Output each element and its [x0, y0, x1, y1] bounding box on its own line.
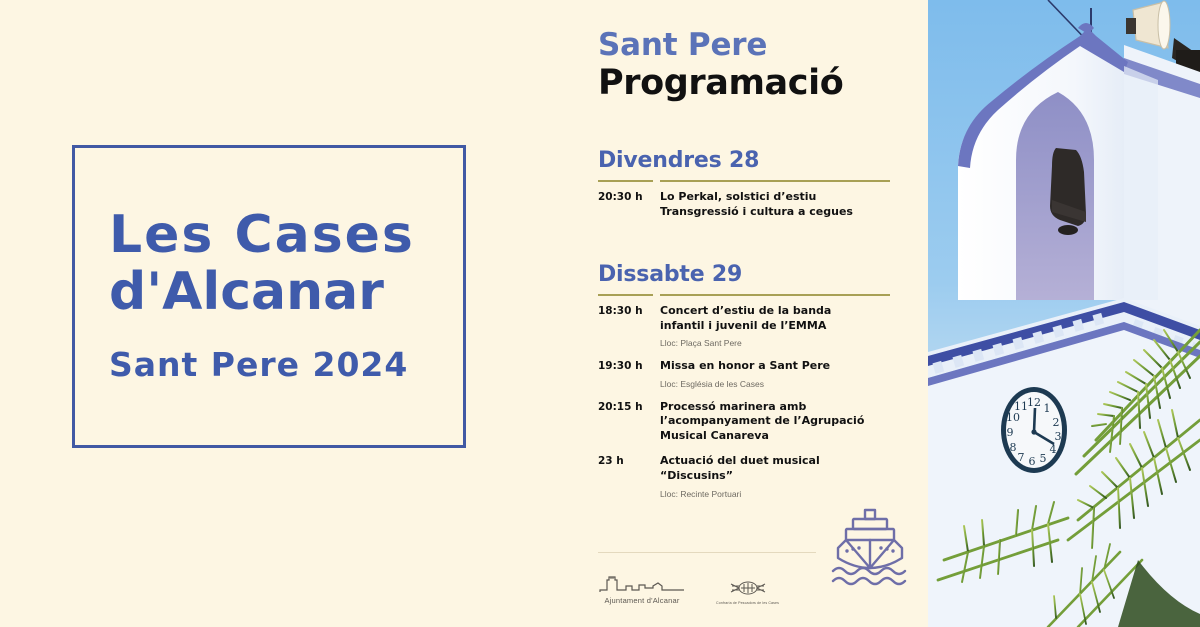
tower-clock: 12 1 2 3 4 5 6 7 8 9 10 11	[1001, 387, 1067, 473]
day-divider	[598, 180, 898, 182]
event-title: Processó marinera ambl’acompanyament de …	[660, 400, 898, 444]
poster-title-line-1: Les Cases	[109, 209, 429, 262]
svg-text:3: 3	[1055, 430, 1062, 443]
town-skyline-icon	[598, 573, 686, 593]
ship-icon	[830, 508, 910, 591]
divider-short	[598, 294, 653, 296]
day-title: Dissabte 29	[598, 262, 898, 287]
header-eyebrow: Sant Pere	[598, 28, 843, 62]
logo-caption: Ajuntament d'Alcanar	[604, 596, 679, 605]
event-body: Lo Perkal, solstici d’estiuTransgressió …	[660, 190, 898, 219]
event-time: 20:30 h	[598, 190, 660, 219]
event-row: 18:30 h Concert d’estiu de la bandainfan…	[598, 304, 898, 348]
logo-caption: Confraria de Pescadors de les Cases	[716, 601, 779, 605]
event-place: Lloc: Recinte Portuari	[660, 489, 898, 499]
day-block-dissabte: Dissabte 29 18:30 h Concert d’estiu de l…	[598, 262, 898, 510]
event-title: Missa en honor a Sant Pere	[660, 359, 898, 374]
bell-tower-photo: 12 1 2 3 4 5 6 7 8 9 10 11	[928, 0, 1200, 627]
day-title: Divendres 28	[598, 148, 898, 173]
title-box: Les Cases d'Alcanar Sant Pere 2024	[72, 145, 466, 448]
event-time: 20:15 h	[598, 400, 660, 444]
event-row: 23 h Actuació del duet musical“Discusins…	[598, 454, 898, 498]
day-block-divendres: Divendres 28 20:30 h Lo Perkal, solstici…	[598, 148, 898, 230]
divider-long	[660, 180, 890, 182]
svg-text:6: 6	[1029, 455, 1036, 468]
event-title: Actuació del duet musical“Discusins”	[660, 454, 898, 483]
fishing-guild-icon	[717, 580, 779, 598]
svg-text:4: 4	[1050, 443, 1057, 456]
event-body: Missa en honor a Sant Pere Lloc: Esglési…	[660, 359, 898, 389]
poster-canvas: Les Cases d'Alcanar Sant Pere 2024 Sant …	[0, 0, 1200, 627]
header-title: Programació	[598, 64, 843, 103]
event-place: Lloc: Plaça Sant Pere	[660, 338, 898, 348]
event-row: 19:30 h Missa en honor a Sant Pere Lloc:…	[598, 359, 898, 389]
event-place: Lloc: Església de les Cases	[660, 379, 898, 389]
event-time: 23 h	[598, 454, 660, 498]
event-body: Actuació del duet musical“Discusins” Llo…	[660, 454, 898, 498]
event-time: 18:30 h	[598, 304, 660, 348]
event-row: 20:15 h Processó marinera ambl’acompanya…	[598, 400, 898, 444]
poster-title-line-2: d'Alcanar	[109, 266, 429, 319]
bell-tower-illustration: 12 1 2 3 4 5 6 7 8 9 10 11	[928, 0, 1200, 627]
day-divider	[598, 294, 898, 296]
footer-divider	[598, 552, 816, 554]
poster-subtitle: Sant Pere 2024	[109, 345, 429, 384]
event-title: Concert d’estiu de la bandainfantil i ju…	[660, 304, 898, 333]
event-title: Lo Perkal, solstici d’estiuTransgressió …	[660, 190, 898, 219]
ajuntament-alcanar-logo: Ajuntament d'Alcanar	[598, 573, 686, 605]
svg-text:11: 11	[1014, 400, 1028, 413]
svg-text:7: 7	[1018, 451, 1025, 464]
left-panel: Les Cases d'Alcanar Sant Pere 2024	[0, 0, 560, 627]
ship-icon-svg	[830, 508, 910, 586]
event-body: Concert d’estiu de la bandainfantil i ju…	[660, 304, 898, 348]
confraria-pescadors-logo: Confraria de Pescadors de les Cases	[716, 580, 779, 605]
svg-text:8: 8	[1010, 441, 1017, 454]
divider-short	[598, 180, 653, 182]
event-row: 20:30 h Lo Perkal, solstici d’estiuTrans…	[598, 190, 898, 219]
svg-text:5: 5	[1040, 452, 1047, 465]
program-panel: Sant Pere Programació Divendres 28 20:30…	[560, 0, 928, 627]
svg-text:2: 2	[1053, 416, 1060, 429]
svg-text:1: 1	[1044, 402, 1051, 415]
event-time: 19:30 h	[598, 359, 660, 389]
divider-long	[660, 294, 890, 296]
program-header: Sant Pere Programació	[598, 28, 843, 103]
svg-text:9: 9	[1007, 426, 1014, 439]
svg-text:12: 12	[1027, 396, 1041, 409]
event-body: Processó marinera ambl’acompanyament de …	[660, 400, 898, 444]
